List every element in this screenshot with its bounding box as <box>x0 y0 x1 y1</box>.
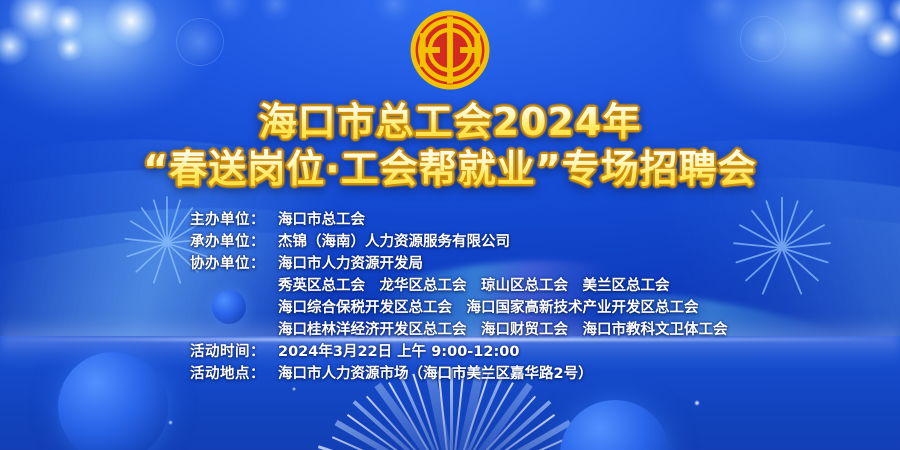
poster-title-line-2: “春送岗位·工会帮就业”专场招聘会 <box>0 147 900 192</box>
bokeh-circle <box>824 16 866 58</box>
light-ray <box>452 420 572 450</box>
light-ray <box>332 436 452 450</box>
bokeh-circle <box>888 0 900 28</box>
detail-row-event-location: 活动地点： 海口市人力资源市场（海口市美兰区嘉华路2号） <box>190 362 750 384</box>
detail-label: 协办单位： <box>190 252 278 273</box>
bokeh-circle <box>700 0 744 28</box>
detail-value: 海口市总工会 <box>278 208 365 229</box>
bokeh-circle <box>56 34 84 62</box>
light-ray <box>366 396 452 450</box>
light-ray <box>451 400 552 450</box>
decorative-sphere <box>58 352 168 450</box>
bokeh-circle <box>208 0 250 24</box>
light-ray <box>450 414 555 450</box>
light-ray <box>451 383 533 450</box>
bokeh-circle <box>836 0 886 38</box>
detail-value: 杰锦（海南）人力资源服务有限公司 <box>278 230 510 251</box>
detail-value: 海口市人力资源市场（海口市美兰区嘉华路2号） <box>278 362 593 383</box>
light-ray <box>451 436 571 450</box>
detail-label: 活动地点： <box>190 362 278 383</box>
bokeh-circle <box>104 0 158 48</box>
light-ray <box>353 400 454 450</box>
detail-label: 活动时间： <box>190 340 278 361</box>
detail-value: 海口综合保税开发区总工会 海口国家高新技术产业开发区总工会 <box>278 296 699 317</box>
bokeh-circle <box>740 16 786 62</box>
detail-row-organizer: 主办单位： 海口市总工会 <box>190 208 750 230</box>
poster-banner: 海口市总工会2024年 “春送岗位·工会帮就业”专场招聘会 主办单位： 海口市总… <box>0 0 900 450</box>
light-ray <box>399 374 453 450</box>
poster-title-line-1: 海口市总工会2024年 <box>0 100 900 145</box>
bokeh-circle <box>866 18 900 58</box>
detail-label: 主办单位： <box>190 208 278 229</box>
sparkle-dot <box>292 387 296 391</box>
light-ray <box>450 382 514 450</box>
detail-row-coorganizer: 协办单位： 海口市人力资源开发局 <box>190 252 750 274</box>
light-ray <box>347 414 452 450</box>
bokeh-circle <box>258 0 294 22</box>
light-ray <box>335 420 455 450</box>
light-ray <box>318 445 452 450</box>
detail-row-coorganizer-cont-1: 主办单位： 秀英区总工会 龙华区总工会 琼山区总工会 美兰区总工会 <box>190 274 750 296</box>
bokeh-circle <box>516 0 556 22</box>
detail-value: 秀英区总工会 龙华区总工会 琼山区总工会 美兰区总工会 <box>278 274 670 295</box>
detail-value: 2024年3月22日 上午 9:00-12:00 <box>278 340 519 361</box>
detail-label: 承办单位： <box>190 230 278 251</box>
bokeh-circle <box>50 4 84 38</box>
decorative-sphere <box>560 400 670 450</box>
bokeh-circle <box>782 0 832 30</box>
bokeh-circle <box>176 18 224 66</box>
sparkle-dot <box>694 400 700 406</box>
detail-row-event-time: 活动时间： 2024年3月22日 上午 9:00-12:00 <box>190 340 750 362</box>
detail-row-coorganizer-cont-3: 主办单位： 海口桂林洋经济开发区总工会 海口财贸工会 海口市教科文卫体工会 <box>190 318 750 340</box>
light-ray <box>412 374 452 450</box>
light-ray <box>374 382 457 450</box>
bokeh-circle <box>0 26 30 66</box>
detail-value: 海口桂林洋经济开发区总工会 海口财贸工会 海口市教科文卫体工会 <box>278 318 728 339</box>
light-ray <box>388 382 452 450</box>
light-ray <box>451 445 585 450</box>
title-block: 海口市总工会2024年 “春送岗位·工会帮就业”专场招聘会 <box>0 100 900 192</box>
sparkle-dot <box>168 420 173 425</box>
light-ray <box>450 396 536 450</box>
details-block: 主办单位： 海口市总工会 承办单位： 杰锦（海南）人力资源服务有限公司 协办单位… <box>190 208 750 384</box>
detail-row-undertaker: 承办单位： 杰锦（海南）人力资源服务有限公司 <box>190 230 750 252</box>
light-ray <box>450 374 504 450</box>
detail-row-coorganizer-cont-2: 主办单位： 海口综合保税开发区总工会 海口国家高新技术产业开发区总工会 <box>190 296 750 318</box>
light-ray <box>450 374 490 450</box>
detail-value: 海口市人力资源开发局 <box>278 252 423 273</box>
bokeh-circle <box>8 0 64 42</box>
acftu-union-emblem-icon <box>408 8 492 92</box>
